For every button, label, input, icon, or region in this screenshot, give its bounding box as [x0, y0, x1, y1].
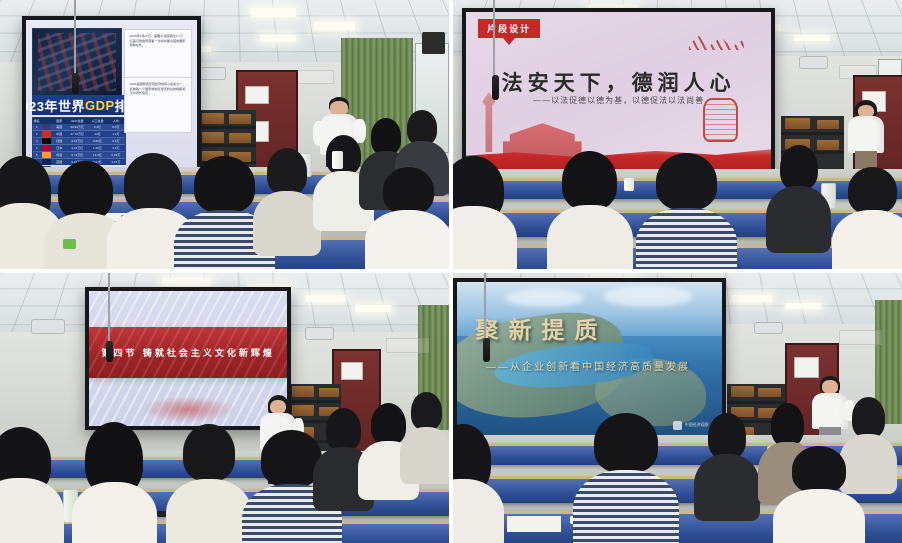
student	[0, 427, 58, 543]
photo-panel-bottom-left[interactable]: 第四节 铸就社会主义文化新辉煌	[0, 273, 449, 543]
hanging-cable	[108, 273, 110, 346]
hanging-microphone	[483, 338, 490, 362]
classroom-scene: 第四节 铸就社会主义文化新辉煌	[0, 273, 449, 543]
panel-grid: 2023年世界GDP排名 排名 国家 GDP总量 人口总量 人均	[0, 0, 902, 543]
student	[695, 413, 758, 521]
photo-panel-top-right[interactable]: 片段设计 法安天下，德润人心 ——以法促德以德为基，以德促法以法尚善	[453, 0, 902, 269]
country-cell: 中国	[52, 131, 67, 137]
country-flag-icon	[42, 124, 51, 130]
hanging-cable	[74, 0, 76, 78]
gdp-cell: 3.73万亿	[67, 152, 88, 158]
slide-title: 第四节 铸就社会主义文化新辉煌	[89, 327, 287, 378]
student	[835, 167, 902, 269]
hanging-microphone	[106, 341, 113, 363]
paper-sheet	[507, 516, 561, 532]
monument-graphic	[481, 92, 496, 152]
country-flag-icon	[42, 145, 51, 151]
table-row: 1美国26.94万亿3.3亿8.0万	[33, 124, 125, 131]
per-capita-cell: 3.4万	[107, 145, 125, 151]
slide-subtitle: ——从企业创新看中国经济高质量发展	[486, 358, 690, 373]
per-capita-cell: 1.2万	[107, 131, 125, 137]
classroom-scene: 聚新提质 ——从企业创新看中国经济高质量发展 中国经济观察	[453, 273, 902, 543]
student	[552, 151, 628, 269]
slide-note-top: 2023年3月27日，美国众议院通过4.7万亿美元财政预算第一次将中国为首的国家…	[124, 29, 192, 80]
hanging-microphone	[492, 75, 499, 99]
logo-mark	[673, 421, 682, 430]
decorative-glow	[141, 396, 236, 423]
student	[453, 156, 511, 269]
rank-cell: 1	[33, 124, 41, 130]
ceiling-projector	[31, 319, 64, 335]
projector	[305, 327, 334, 340]
student	[400, 392, 449, 484]
gdp-cell: 4.43万亿	[67, 138, 88, 144]
country-flag-icon	[42, 138, 51, 144]
slide-badge: 片段设计	[478, 19, 540, 38]
hanging-microphone	[72, 73, 79, 95]
flag-cell	[41, 145, 52, 151]
presentation-screen: 2023年世界GDP排名 排名 国家 GDP总量 人口总量 人均	[22, 16, 201, 175]
table-row: 3德国4.43万亿0.83亿5.3万	[33, 138, 125, 145]
rank-cell: 2	[33, 131, 41, 137]
green-sticker	[63, 239, 76, 248]
slide-title: 聚新提质	[476, 311, 608, 345]
photo-panel-bottom-right[interactable]: 聚新提质 ——从企业创新看中国经济高质量发展 中国经济观察	[453, 273, 902, 543]
slide-title: 2023年世界GDP排名	[32, 95, 124, 115]
student	[776, 446, 861, 543]
cup	[332, 151, 343, 170]
population-cell: 0.83亿	[88, 138, 107, 144]
student	[76, 422, 152, 543]
student	[368, 167, 449, 269]
classroom-scene: 2023年世界GDP排名 排名 国家 GDP总量 人口总量 人均	[0, 0, 449, 269]
flag-cell	[41, 131, 52, 137]
country-cell: 日本	[52, 145, 67, 151]
projector	[754, 322, 783, 335]
table-row: 4日本4.23万亿1.26亿3.4万	[33, 145, 125, 152]
population-cell: 14.3亿	[88, 152, 107, 158]
country-cell: 美国	[52, 124, 67, 130]
student	[767, 145, 830, 253]
photo-collage: 2023年世界GDP排名 排名 国家 GDP总量 人口总量 人均	[0, 0, 902, 543]
population-cell: 3.3亿	[88, 124, 107, 130]
hanging-cable	[484, 273, 486, 343]
per-capita-cell: 8.0万	[107, 124, 125, 130]
table-row: 2中国17.70万亿14亿1.2万	[33, 131, 125, 138]
classroom-scene: 片段设计 法安天下，德润人心 ——以法促德以德为基，以德促法以法尚善	[453, 0, 902, 269]
hanging-cable	[493, 0, 495, 81]
country-flag-icon	[42, 131, 51, 137]
projector	[799, 56, 828, 69]
brush-mark	[689, 32, 744, 50]
country-cell: 德国	[52, 138, 67, 144]
photo-panel-top-left[interactable]: 2023年世界GDP排名 排名 国家 GDP总量 人口总量 人均	[0, 0, 449, 269]
population-cell: 14亿	[88, 131, 107, 137]
student	[579, 413, 673, 543]
projector	[198, 67, 227, 80]
slide-note-bottom: GDP是国家级宏观经济的核心指标之一，反映着一个国家或地区经济的总体规模和平均增…	[124, 77, 192, 132]
student	[171, 424, 247, 543]
gdp-cell: 4.23万亿	[67, 145, 88, 151]
gdp-cell: 17.70万亿	[67, 131, 88, 137]
fist-graphic	[703, 98, 738, 142]
wall-speaker	[422, 32, 444, 54]
population-cell: 1.26亿	[88, 145, 107, 151]
rank-cell: 4	[33, 145, 41, 151]
flag-cell	[41, 124, 52, 130]
flag-cell	[41, 138, 52, 144]
rank-cell: 3	[33, 138, 41, 144]
slide-title: 法安天下，德润人心	[466, 67, 771, 97]
student	[453, 424, 498, 543]
per-capita-cell: 5.3万	[107, 138, 125, 144]
slide-gdp-ranking: 2023年世界GDP排名 排名 国家 GDP总量 人口总量 人均	[26, 20, 197, 171]
student	[642, 153, 732, 269]
title-band: 第四节 铸就社会主义文化新辉煌	[89, 327, 287, 378]
student	[256, 148, 319, 256]
gdp-cell: 26.94万亿	[67, 124, 88, 130]
